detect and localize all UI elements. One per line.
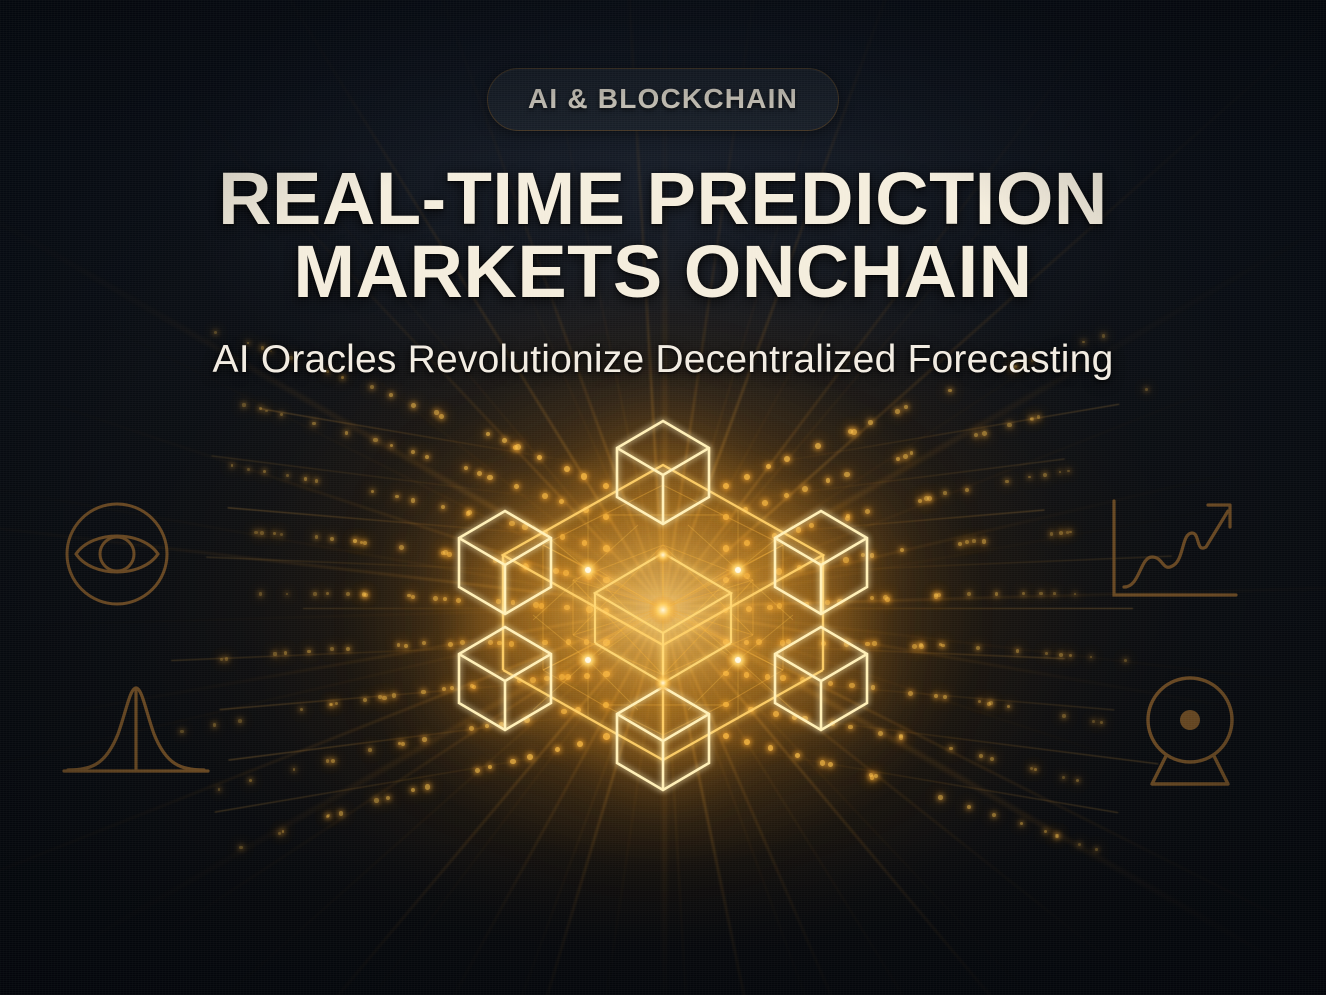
particle <box>327 814 330 817</box>
page-title: REAL-TIME PREDICTION MARKETS ONCHAIN <box>0 163 1326 308</box>
particle <box>990 757 994 761</box>
particle <box>218 788 221 791</box>
particle <box>326 759 330 763</box>
particle <box>231 464 234 467</box>
particle <box>1145 388 1149 392</box>
particle <box>1030 418 1033 421</box>
particle <box>363 698 367 702</box>
particle <box>1007 705 1010 708</box>
particle <box>371 490 375 494</box>
particle <box>242 403 245 406</box>
particle <box>1037 415 1041 419</box>
particle <box>1059 531 1063 535</box>
particle <box>1092 720 1095 723</box>
particle <box>364 593 368 597</box>
blockchain-cube-graphic <box>383 405 943 805</box>
particle <box>1044 830 1047 833</box>
particle <box>370 385 374 389</box>
particle <box>238 719 242 723</box>
particle <box>360 541 364 545</box>
particle <box>326 815 329 818</box>
particle <box>260 531 264 535</box>
particle <box>943 491 947 495</box>
particle <box>1030 417 1034 421</box>
particle <box>278 832 281 835</box>
particle <box>368 748 372 752</box>
particle <box>1022 592 1025 595</box>
page-subtitle: AI Oracles Revolutionize Decentralized F… <box>0 338 1326 382</box>
particle <box>346 647 350 651</box>
particle <box>304 477 308 481</box>
particle <box>989 701 992 704</box>
particle <box>965 488 969 492</box>
particle <box>982 539 987 544</box>
particle <box>331 759 336 764</box>
particle <box>1078 843 1081 846</box>
particle <box>1074 593 1077 596</box>
particle <box>992 813 996 817</box>
title-line-2: MARKETS ONCHAIN <box>0 236 1326 309</box>
particle <box>1030 767 1033 770</box>
particle <box>259 592 262 595</box>
particle <box>1056 834 1060 838</box>
particle <box>312 422 316 426</box>
particle <box>225 657 229 661</box>
particle <box>1016 649 1019 652</box>
particle <box>362 592 366 596</box>
particle <box>335 702 338 705</box>
poster-content: AI & BLOCKCHAIN REAL-TIME PREDICTION MAR… <box>0 0 1326 382</box>
particle <box>948 389 952 393</box>
particle <box>1059 653 1063 657</box>
particle <box>353 539 357 543</box>
particle <box>339 811 343 815</box>
particle <box>1034 768 1037 771</box>
particle <box>363 541 367 545</box>
particle <box>330 703 333 706</box>
particle <box>949 747 953 751</box>
particle <box>247 468 250 471</box>
particle <box>284 651 288 655</box>
particle <box>265 410 268 413</box>
particle <box>958 542 962 546</box>
particle <box>346 592 350 596</box>
particle <box>263 470 267 474</box>
particle <box>378 695 382 699</box>
particle <box>273 652 276 655</box>
poster-canvas: AI & BLOCKCHAIN REAL-TIME PREDICTION MAR… <box>0 0 1326 995</box>
particle <box>982 431 987 436</box>
particle <box>1069 531 1072 534</box>
particle <box>280 533 283 536</box>
particle <box>987 702 991 706</box>
particle <box>967 805 972 810</box>
particle <box>313 592 317 596</box>
particle <box>1055 834 1059 838</box>
particle <box>1100 721 1103 724</box>
particle <box>1095 848 1098 851</box>
particle <box>1045 652 1048 655</box>
particle <box>330 537 334 541</box>
particle <box>1066 531 1069 534</box>
particle <box>374 798 379 803</box>
particle <box>345 431 349 435</box>
particle <box>1028 476 1031 479</box>
particle <box>315 479 319 483</box>
particle <box>1062 714 1066 718</box>
eye-icon <box>58 495 176 613</box>
particle <box>330 647 334 651</box>
particle <box>1059 471 1061 473</box>
particle <box>329 703 332 706</box>
particle <box>326 592 329 595</box>
particle <box>1124 659 1127 662</box>
particle <box>1007 423 1011 427</box>
particle <box>1020 822 1023 825</box>
particle <box>1062 776 1065 779</box>
title-line-1: REAL-TIME PREDICTION <box>0 163 1326 236</box>
particle <box>282 830 285 833</box>
particle <box>995 592 999 596</box>
trend-chart-icon <box>1104 495 1242 607</box>
particle <box>389 393 393 397</box>
category-badge: AI & BLOCKCHAIN <box>487 68 839 131</box>
particle <box>967 592 971 596</box>
particle <box>286 474 289 477</box>
particle <box>280 413 283 416</box>
particle <box>315 535 318 538</box>
particle <box>972 539 976 543</box>
particle <box>353 539 357 543</box>
particle <box>1069 654 1072 657</box>
particle <box>976 646 980 650</box>
particle <box>300 708 303 711</box>
particle <box>254 531 258 535</box>
particle <box>307 650 311 654</box>
particle <box>979 754 983 758</box>
particle <box>965 540 969 544</box>
particle <box>1005 480 1009 484</box>
particle <box>373 438 377 442</box>
particle <box>273 532 276 535</box>
particle <box>220 658 223 661</box>
particle <box>1076 779 1079 782</box>
particle <box>978 700 981 703</box>
particle <box>249 779 252 782</box>
particle <box>1067 470 1069 472</box>
particle <box>1050 532 1054 536</box>
particle <box>213 723 216 726</box>
particle <box>1053 592 1056 595</box>
oracle-dish-icon <box>1136 672 1244 790</box>
particle <box>974 433 978 437</box>
particle <box>293 768 296 771</box>
particle <box>286 593 288 595</box>
particle <box>259 407 262 410</box>
particle <box>1090 656 1092 658</box>
particle <box>943 695 947 699</box>
bell-curve-icon <box>62 668 210 780</box>
particle <box>362 593 366 597</box>
particle <box>1043 473 1047 477</box>
particle <box>1039 592 1042 595</box>
particle <box>239 846 243 850</box>
